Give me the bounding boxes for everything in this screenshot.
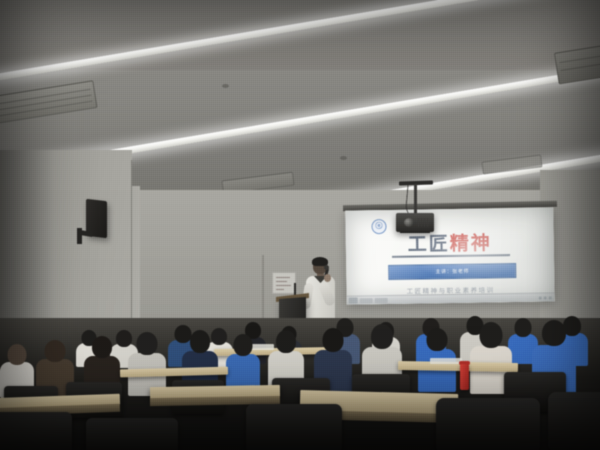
chair bbox=[246, 404, 342, 450]
person-head bbox=[92, 336, 112, 358]
audience-member bbox=[128, 332, 166, 394]
person-head bbox=[190, 330, 210, 353]
taskbar-tray bbox=[539, 296, 552, 299]
chair bbox=[86, 418, 178, 450]
person-head bbox=[480, 322, 503, 348]
person-head bbox=[542, 320, 566, 346]
chair bbox=[436, 398, 540, 450]
tray-icon bbox=[544, 296, 547, 299]
slide-title: 工匠精神 bbox=[346, 233, 554, 255]
smoke-detector-icon bbox=[222, 84, 229, 88]
slide-title-part-1: 工匠 bbox=[408, 233, 450, 256]
person-head bbox=[8, 344, 27, 365]
projector-lens-icon bbox=[404, 218, 414, 227]
ceiling-projector bbox=[396, 213, 434, 232]
person-head bbox=[276, 330, 296, 353]
slide-title-part-2: 精神 bbox=[450, 232, 492, 255]
speaker-bracket-post bbox=[77, 228, 82, 244]
photo-scene: ⓔ 工匠精神 主讲：张老师 工匠精神与职业素养培训 bbox=[0, 0, 600, 450]
chair bbox=[0, 412, 72, 450]
wall-notice-sign bbox=[272, 272, 296, 294]
slide-presenter-bar: 主讲：张老师 bbox=[388, 263, 516, 280]
presenter-hand bbox=[324, 274, 331, 282]
slide-presenter-bar-text: 主讲：张老师 bbox=[435, 268, 469, 276]
person-head bbox=[427, 328, 448, 351]
red-thermos bbox=[460, 364, 469, 390]
door-frame-edge bbox=[262, 255, 264, 327]
person-head bbox=[234, 334, 253, 356]
taskbar-item bbox=[360, 298, 373, 303]
slide: ⓔ 工匠精神 主讲：张老师 工匠精神与职业素养培训 bbox=[345, 207, 554, 304]
microphone-head-icon bbox=[324, 265, 329, 270]
papers bbox=[430, 358, 462, 364]
person-head bbox=[323, 328, 344, 352]
ceiling-vent-left-icon bbox=[0, 80, 98, 124]
person-head bbox=[515, 318, 532, 337]
chair bbox=[548, 392, 600, 450]
taskbar-start-icon bbox=[349, 297, 358, 303]
projection-screen: ⓔ 工匠精神 主讲：张老师 工匠精神与职业素养培训 bbox=[345, 207, 554, 304]
tray-icon bbox=[539, 296, 542, 299]
tray-icon bbox=[549, 296, 552, 299]
person-head bbox=[371, 324, 393, 349]
smoke-detector-icon bbox=[340, 156, 347, 160]
taskbar-item bbox=[375, 297, 388, 302]
audience-member bbox=[226, 334, 260, 392]
person-head bbox=[137, 332, 158, 355]
projector-vent-icon bbox=[418, 218, 430, 227]
slide-logo-icon: ⓔ bbox=[371, 219, 386, 234]
person-head bbox=[45, 340, 66, 362]
